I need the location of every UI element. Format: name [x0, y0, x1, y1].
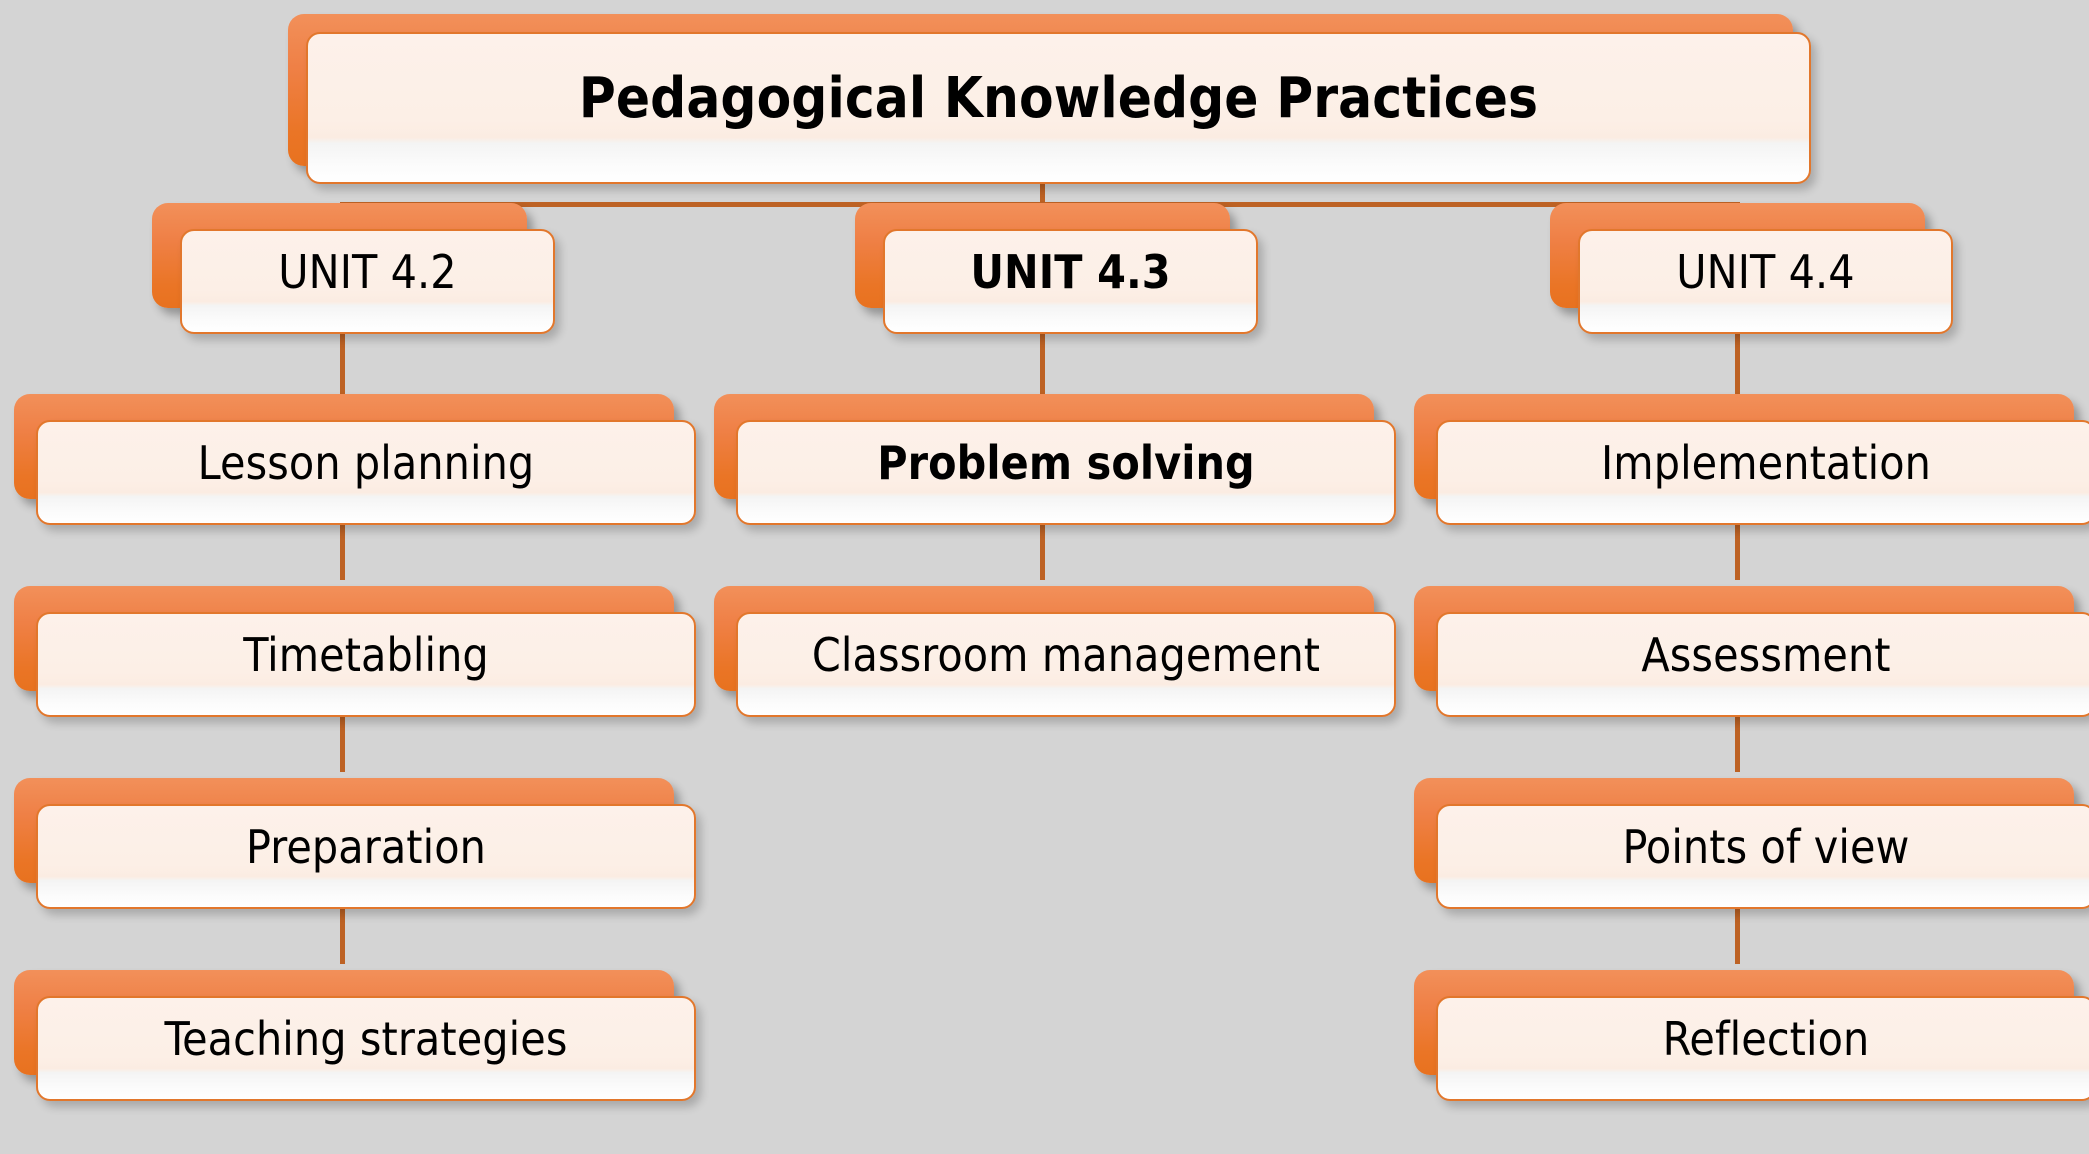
node-col1-item-4-label: Teaching strategies — [38, 1015, 694, 1063]
node-col3-item-4[interactable]: Reflection — [1414, 970, 2074, 1075]
node-col1-item-2-face: Timetabling — [36, 612, 696, 717]
node-col1-item-2-label: Timetabling — [38, 631, 694, 679]
node-col1-item-4-face: Teaching strategies — [36, 996, 696, 1101]
node-unit-3-face: UNIT 4.4 — [1578, 229, 1953, 334]
node-unit-1[interactable]: UNIT 4.2 — [152, 203, 527, 308]
node-col3-item-1[interactable]: Implementation — [1414, 394, 2074, 499]
node-col1-item-3-face: Preparation — [36, 804, 696, 909]
node-col3-item-2-face: Assessment — [1436, 612, 2089, 717]
node-root-label: Pedagogical Knowledge Practices — [308, 70, 1809, 129]
node-unit-3[interactable]: UNIT 4.4 — [1550, 203, 1925, 308]
node-col2-item-2-face: Classroom management — [736, 612, 1396, 717]
node-unit-2-label: UNIT 4.3 — [885, 248, 1256, 296]
node-col3-item-2-label: Assessment — [1438, 631, 2089, 679]
node-unit-1-label: UNIT 4.2 — [182, 248, 553, 296]
node-col2-item-1-label: Problem solving — [738, 439, 1394, 487]
node-col3-item-4-label: Reflection — [1438, 1015, 2089, 1063]
node-col1-item-1-label: Lesson planning — [38, 439, 694, 487]
node-root-face: Pedagogical Knowledge Practices — [306, 32, 1811, 184]
node-col2-item-1-face: Problem solving — [736, 420, 1396, 525]
node-col1-item-3[interactable]: Preparation — [14, 778, 674, 883]
node-col2-item-2[interactable]: Classroom management — [714, 586, 1374, 691]
diagram-canvas: Pedagogical Knowledge Practices UNIT 4.2… — [0, 0, 2089, 1154]
node-unit-1-face: UNIT 4.2 — [180, 229, 555, 334]
node-unit-2-face: UNIT 4.3 — [883, 229, 1258, 334]
node-col2-item-2-label: Classroom management — [738, 631, 1394, 679]
node-col3-item-1-label: Implementation — [1438, 439, 2089, 487]
node-col3-item-3-label: Points of view — [1438, 823, 2089, 871]
node-col1-item-4[interactable]: Teaching strategies — [14, 970, 674, 1075]
node-col1-item-3-label: Preparation — [38, 823, 694, 871]
node-unit-3-label: UNIT 4.4 — [1580, 248, 1951, 296]
node-col3-item-3[interactable]: Points of view — [1414, 778, 2074, 883]
node-col1-item-2[interactable]: Timetabling — [14, 586, 674, 691]
node-col1-item-1-face: Lesson planning — [36, 420, 696, 525]
node-col3-item-1-face: Implementation — [1436, 420, 2089, 525]
node-col3-item-2[interactable]: Assessment — [1414, 586, 2074, 691]
node-unit-2[interactable]: UNIT 4.3 — [855, 203, 1230, 308]
node-col3-item-4-face: Reflection — [1436, 996, 2089, 1101]
node-col1-item-1[interactable]: Lesson planning — [14, 394, 674, 499]
node-col2-item-1[interactable]: Problem solving — [714, 394, 1374, 499]
node-root[interactable]: Pedagogical Knowledge Practices — [288, 14, 1793, 166]
node-col3-item-3-face: Points of view — [1436, 804, 2089, 909]
